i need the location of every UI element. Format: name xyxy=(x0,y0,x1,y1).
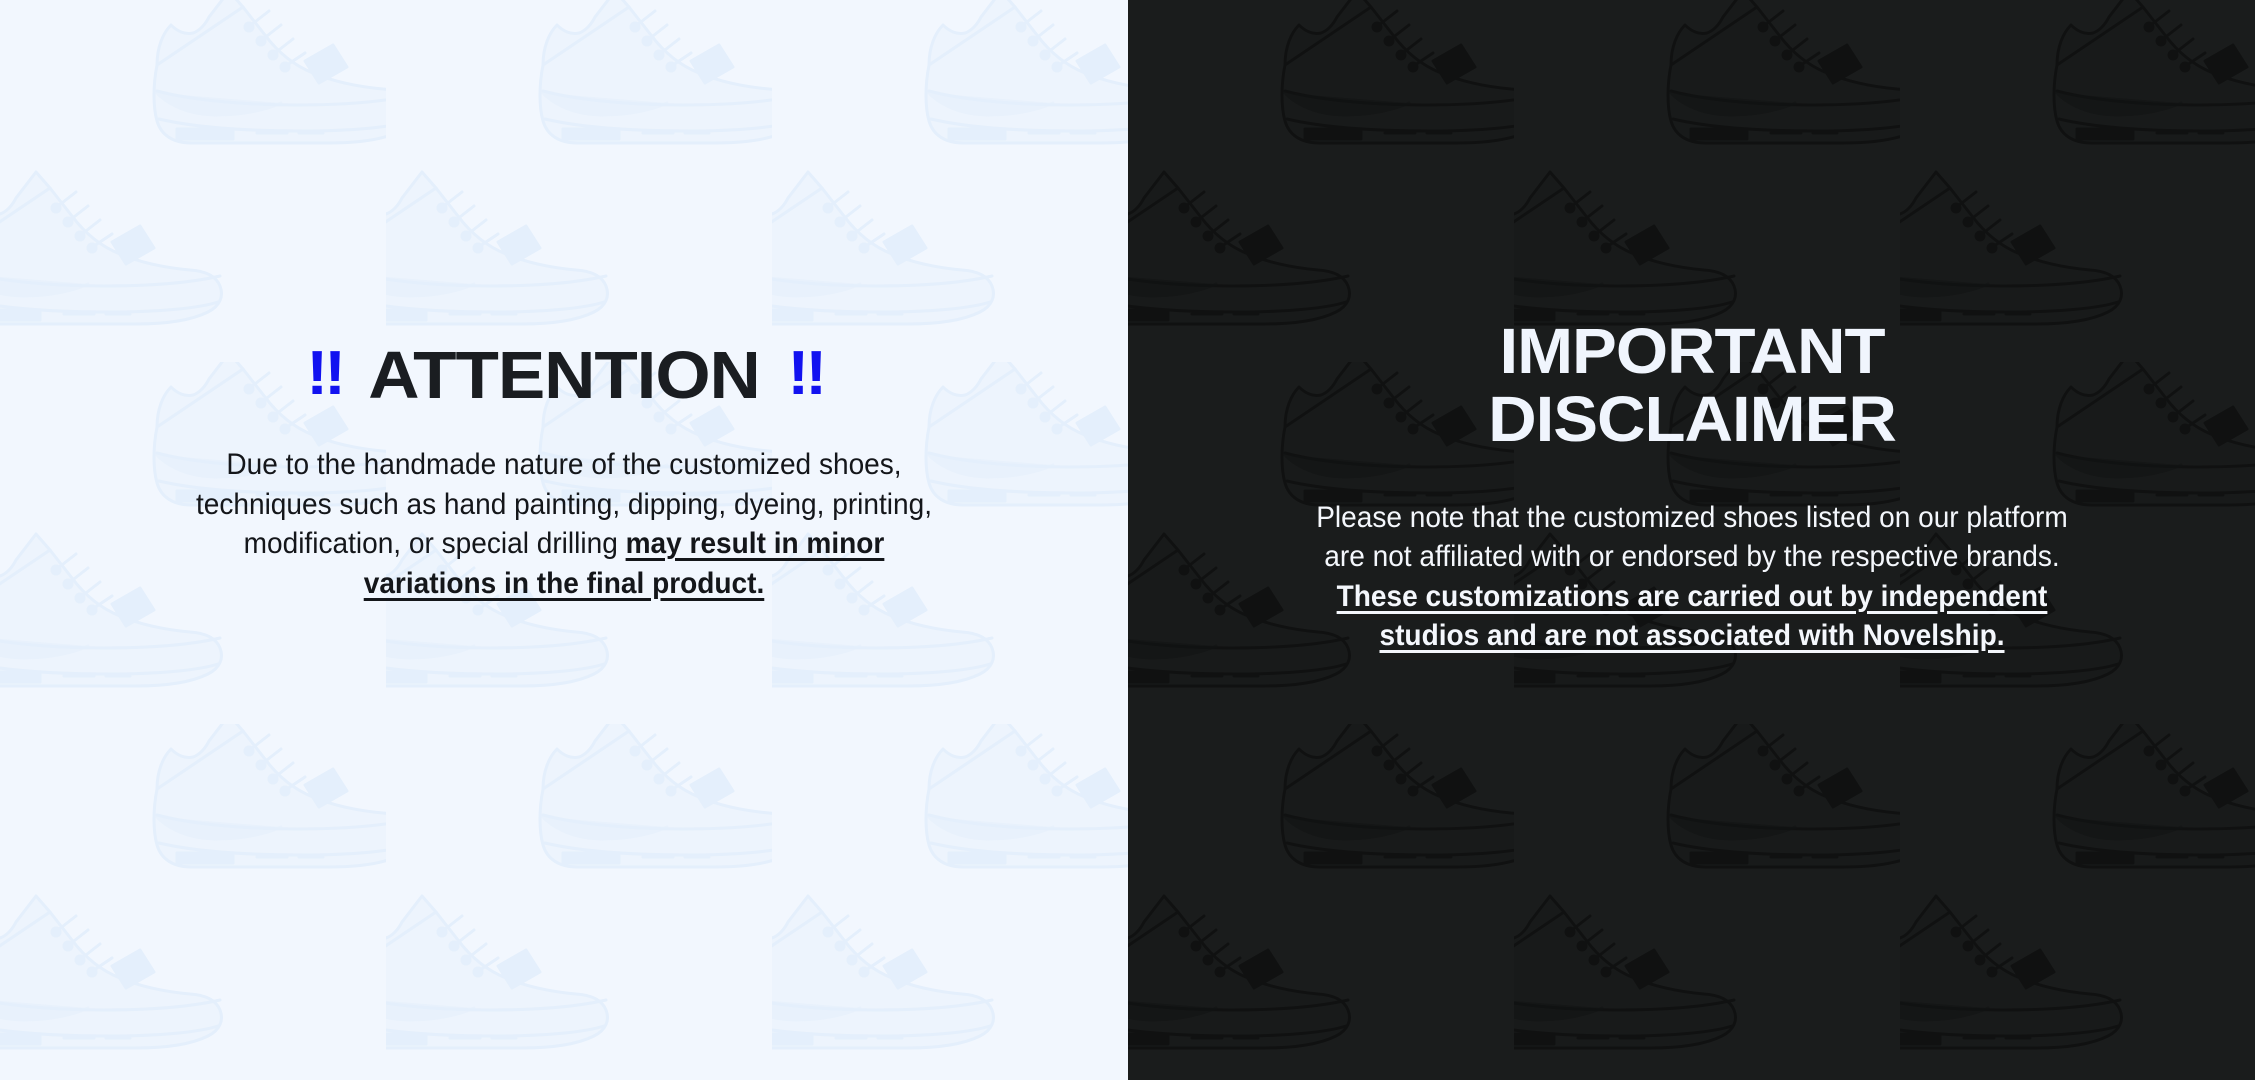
attention-body: Due to the handmade nature of the custom… xyxy=(190,445,938,603)
disclaimer-heading-line-1: IMPORTANT xyxy=(1240,318,2143,386)
disclaimer-heading: IMPORTANT DISCLAIMER xyxy=(1240,318,2143,454)
disclaimer-content: IMPORTANT DISCLAIMER Please note that th… xyxy=(1262,318,2122,656)
attention-panel: ‼ ATTENTION ‼ Due to the handmade nature… xyxy=(0,0,1128,1080)
double-exclamation-right-icon: ‼ xyxy=(787,343,821,405)
double-exclamation-left-icon: ‼ xyxy=(306,343,340,405)
disclaimer-body-intro: Please note that the customized shoes li… xyxy=(1316,501,2068,574)
attention-heading: ‼ ATTENTION ‼ xyxy=(98,342,1031,409)
disclaimer-body-emphasis: These customizations are carried out by … xyxy=(1336,580,2047,653)
disclaimer-panel: IMPORTANT DISCLAIMER Please note that th… xyxy=(1128,0,2255,1080)
disclaimer-body: Please note that the customized shoes li… xyxy=(1308,498,2075,656)
disclaimer-heading-line-2: DISCLAIMER xyxy=(1240,386,2143,454)
split-banner: ‼ ATTENTION ‼ Due to the handmade nature… xyxy=(0,0,2255,1080)
attention-content: ‼ ATTENTION ‼ Due to the handmade nature… xyxy=(124,342,1004,603)
attention-heading-text: ATTENTION xyxy=(368,342,760,409)
